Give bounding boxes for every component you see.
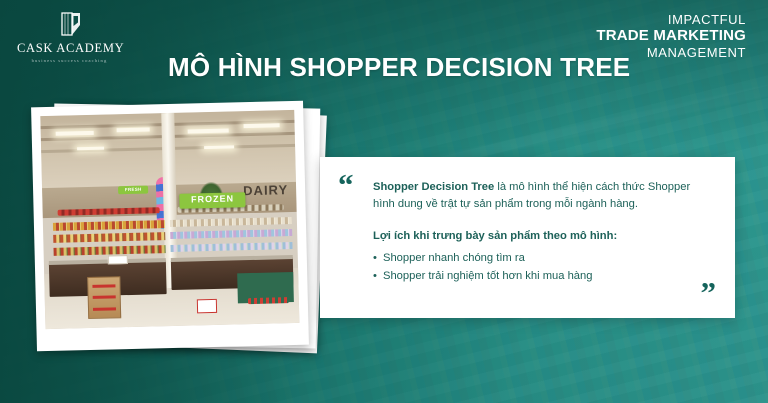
photo-shelf-tag <box>107 255 127 264</box>
quote-paragraph-bold: Shopper Decision Tree <box>373 181 494 193</box>
photo-shelf-tag <box>197 299 217 313</box>
photo-box-label <box>93 296 116 300</box>
brand-logo-tagline: business success coaching <box>17 58 122 63</box>
photo-ceiling-light <box>244 123 280 128</box>
quote-card-body: Shopper Decision Tree là mô hình thể hiệ… <box>373 179 707 285</box>
photo-box-label <box>92 285 115 289</box>
corner-brand-line2: TRADE MARKETING <box>596 27 746 45</box>
photo-product-row <box>170 217 292 227</box>
photo-stack: DAIRY <box>34 104 320 350</box>
open-quote-icon: “ <box>338 169 353 200</box>
photo-sign-dairy: DAIRY <box>243 183 288 199</box>
slide-canvas: Cask Academy business success coaching I… <box>0 0 768 403</box>
photo-product-row <box>170 229 292 239</box>
photo-product-row <box>170 242 292 252</box>
photo-sign-frozen: FROZEN <box>179 192 245 209</box>
close-quote-icon: ” <box>701 277 716 308</box>
page-title: MÔ HÌNH SHOPPER DECISION TREE <box>168 52 630 83</box>
supermarket-aisle-photo: DAIRY <box>40 110 299 329</box>
corner-brand-line1: IMPACTFUL <box>596 12 746 27</box>
benefits-heading: Lợi ích khi trưng bày sản phẩm theo mô h… <box>373 228 707 245</box>
photo-box-label <box>93 307 116 311</box>
quote-paragraph: Shopper Decision Tree là mô hình thể hiệ… <box>373 179 707 213</box>
benefit-item: Shopper nhanh chóng tìm ra <box>373 249 707 267</box>
brand-logo-name: Cask Academy <box>17 42 122 55</box>
photo-sign-fresh: FRESH <box>118 186 148 195</box>
photo-product-row <box>53 232 165 243</box>
photo-cardboard-display <box>87 276 120 319</box>
photo-frame-front: DAIRY <box>31 101 309 352</box>
book-mark-icon <box>57 10 83 38</box>
photo-product-row <box>53 220 165 231</box>
quote-card: “ Shopper Decision Tree là mô hình thể h… <box>320 157 735 318</box>
brand-logo: Cask Academy business success coaching <box>17 10 122 63</box>
photo-ceiling-light <box>117 127 150 132</box>
benefit-item: Shopper trải nghiệm tốt hơn khi mua hàng <box>373 267 707 285</box>
